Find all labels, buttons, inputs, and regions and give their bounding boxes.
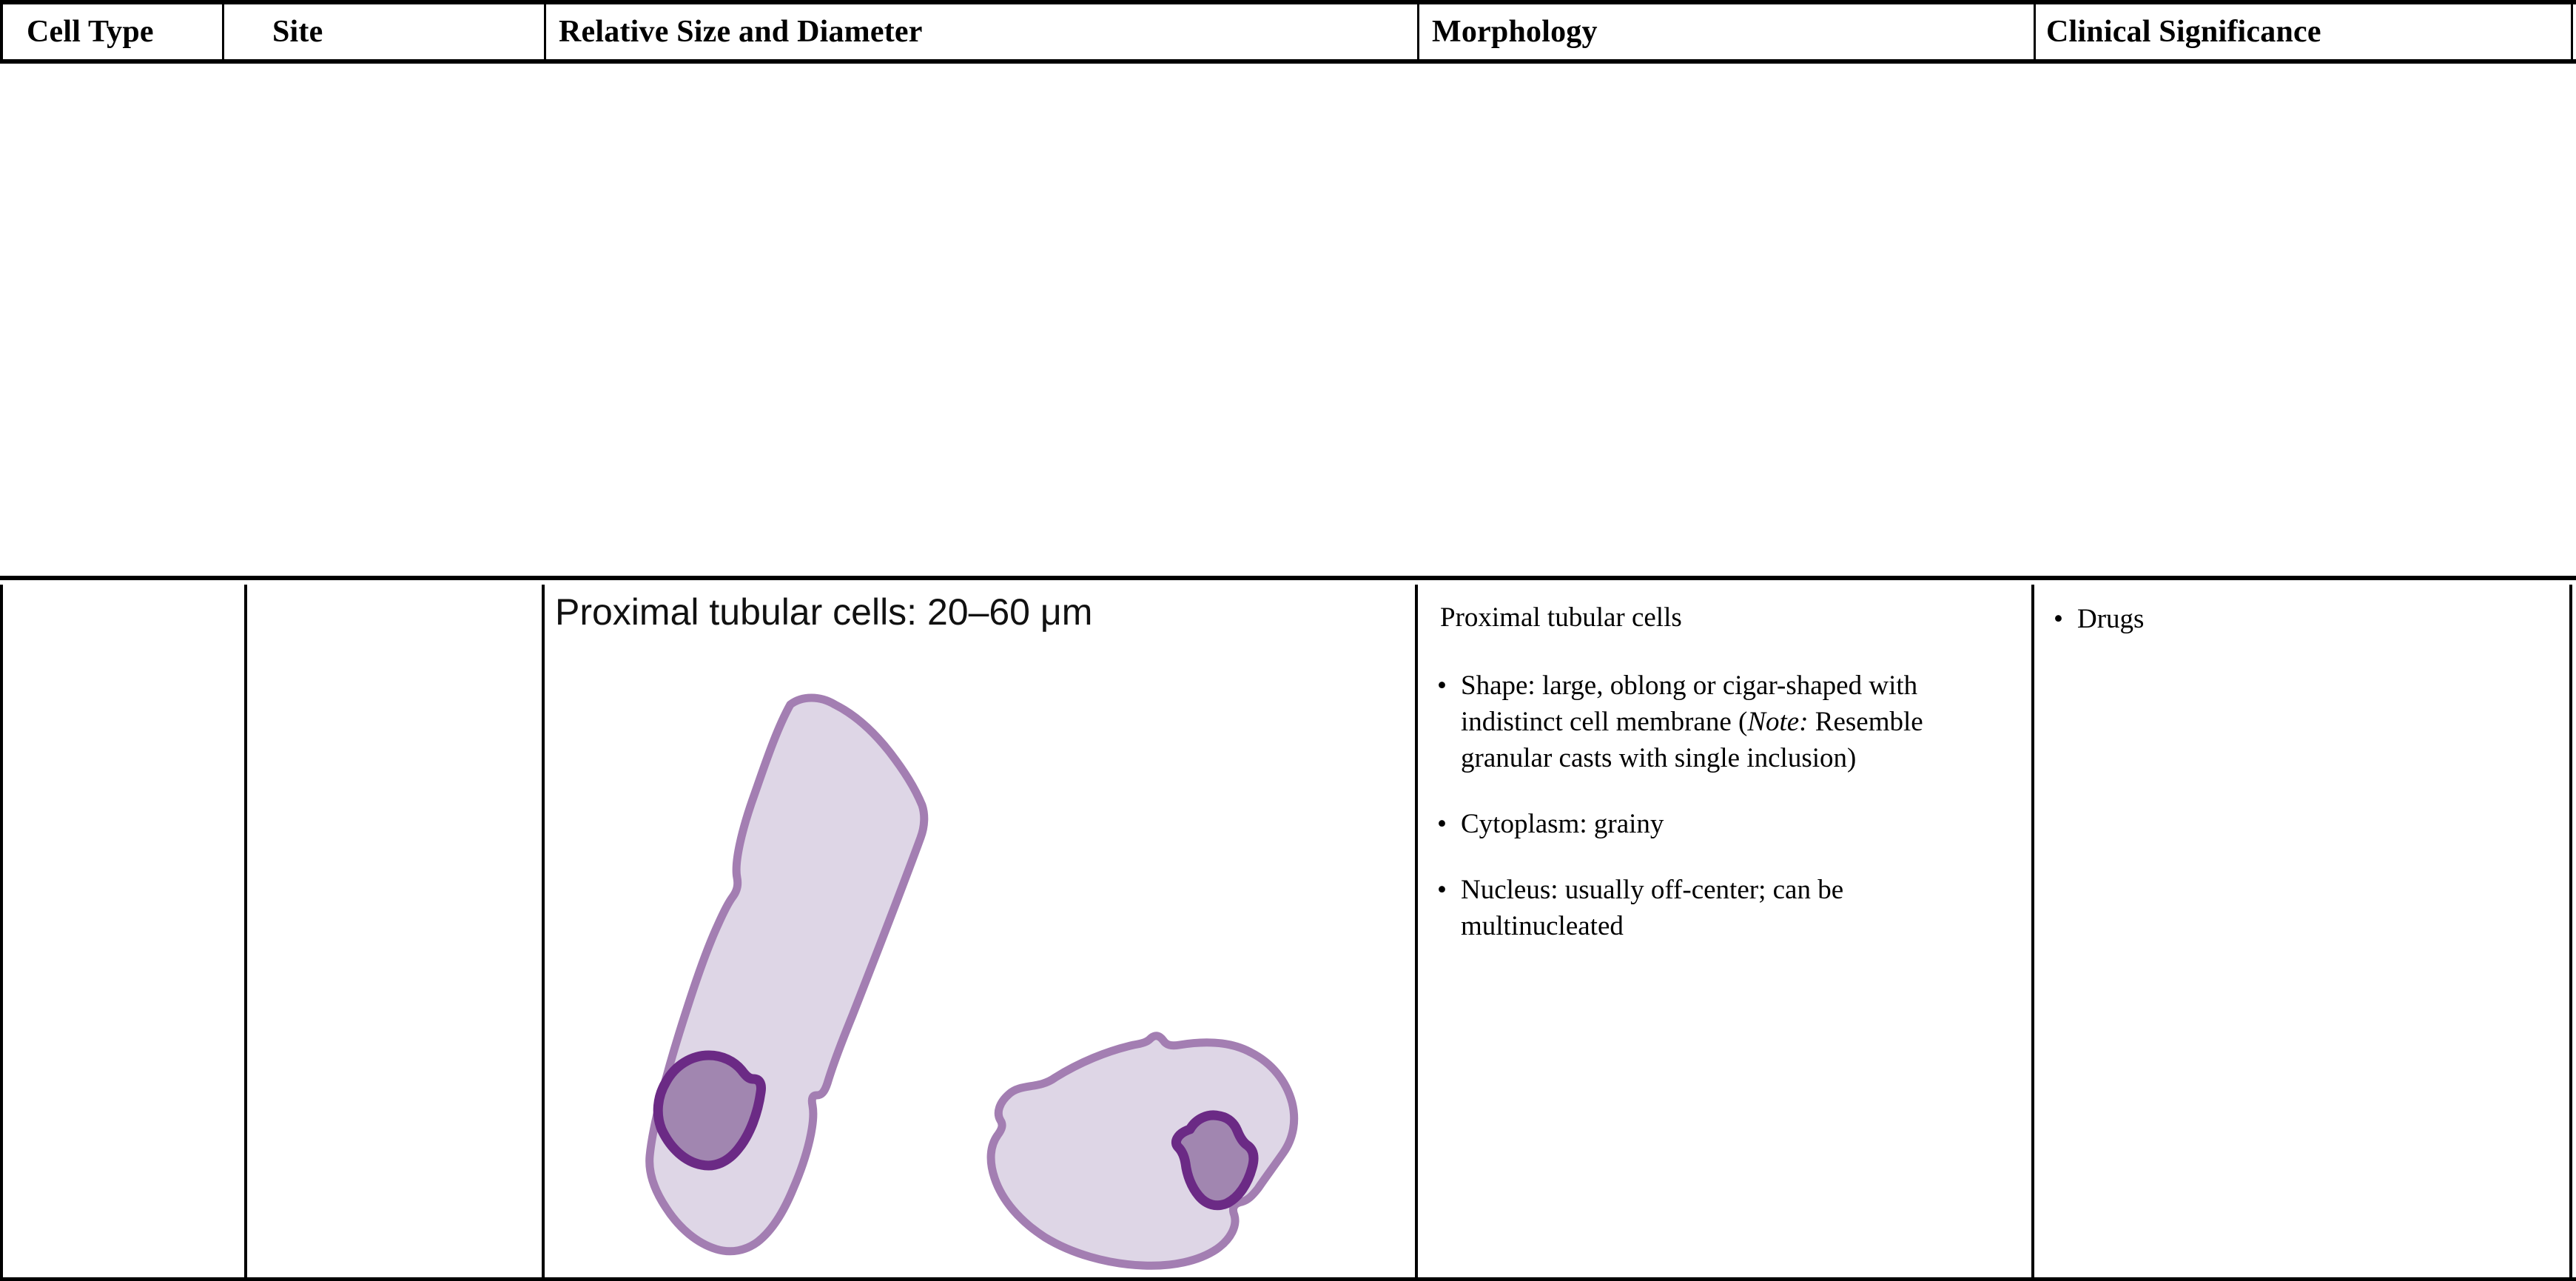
bullet-glyph: • xyxy=(1437,668,1447,704)
header-divider-4 xyxy=(2034,4,2036,59)
list-item: • Cytoplasm: grainy xyxy=(1437,806,2012,842)
list-item: • Shape: large, oblong or cigar-shaped w… xyxy=(1437,668,2012,776)
morphology-heading: Proximal tubular cells xyxy=(1440,601,2012,635)
cell-relative-size-and-diameter: Proximal tubular cells: 20–60 μm xyxy=(545,585,1415,1277)
clinical-bullet-list: • Drugs xyxy=(2054,601,2553,637)
cell-illustration-svg xyxy=(545,636,1415,1280)
list-item: • Nucleus: usually off-center; can be mu… xyxy=(1437,872,2012,944)
list-item-text: Drugs xyxy=(2077,601,2553,637)
cell-site xyxy=(247,585,542,1277)
column-header-cell-type: Cell Type xyxy=(27,4,154,59)
header-divider-2 xyxy=(544,4,546,59)
table-row: Proximal tubular cells: 20–60 μm Proxima… xyxy=(0,576,2576,1281)
list-item-text-italic: Note: xyxy=(1747,707,1808,737)
list-item: • Drugs xyxy=(2054,601,2553,637)
cell-morphology: Proximal tubular cells • Shape: large, o… xyxy=(1418,585,2031,1277)
column-header-site: Site xyxy=(272,4,323,59)
column-header-morphology: Morphology xyxy=(1432,4,1598,59)
table-header-row: Cell Type Site Relative Size and Diamete… xyxy=(0,0,2576,64)
cell-clinical-significance: • Drugs xyxy=(2034,585,2572,1277)
column-header-clinical-significance: Clinical Significance xyxy=(2046,4,2321,59)
header-divider-1 xyxy=(222,4,224,59)
figure-caption: Proximal tubular cells: 20–60 μm xyxy=(555,591,1092,633)
column-header-relative-size-and-diameter: Relative Size and Diameter xyxy=(559,4,923,59)
bullet-glyph: • xyxy=(1437,872,1447,908)
list-item-text: Nucleus: usually off-center; can be mult… xyxy=(1461,872,2012,944)
header-divider-3 xyxy=(1417,4,1419,59)
bullet-glyph: • xyxy=(1437,806,1447,842)
list-item-text: Cytoplasm: grainy xyxy=(1461,806,2012,842)
proximal-tubular-cell-illustration xyxy=(545,636,1415,1280)
header-left-border xyxy=(0,4,3,59)
morphology-bullet-list: • Shape: large, oblong or cigar-shaped w… xyxy=(1437,668,2012,944)
header-right-border xyxy=(2571,4,2573,59)
bullet-glyph: • xyxy=(2054,601,2063,637)
elongated-cell-cytoplasm xyxy=(650,698,924,1251)
list-item-text: Shape: large, oblong or cigar-shaped wit… xyxy=(1461,668,2012,776)
cell-cell-type xyxy=(3,585,244,1277)
